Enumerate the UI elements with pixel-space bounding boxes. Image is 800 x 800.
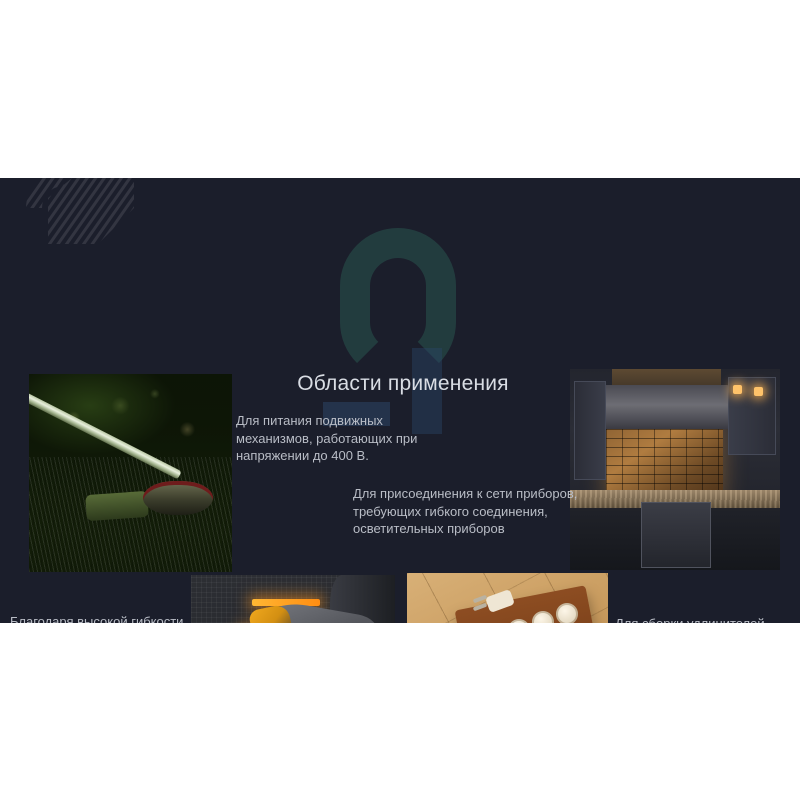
hatch-watermark-icon (24, 178, 134, 278)
photo-socket-block (407, 573, 608, 623)
text-mobile-power: Для питания подвижных механизмов, работа… (236, 412, 446, 465)
watermark-arc (340, 228, 456, 380)
slide-panel: Области применения Для питания подвижных… (0, 178, 800, 623)
prysmian-watermark-logo (318, 228, 478, 438)
text-network-connection: Для присоединения к сети приборов, требу… (353, 485, 578, 538)
photo-grass-trimmer (29, 374, 232, 572)
text-flexibility: Благодаря высокой гибкости идеально подх… (10, 613, 190, 623)
slide-title: Области применения (238, 372, 568, 396)
text-extension-cords: Для сборки удлинителей, которые не дубею… (615, 615, 795, 623)
photo-angle-grinder (191, 575, 395, 623)
photo-kitchen (570, 369, 780, 570)
